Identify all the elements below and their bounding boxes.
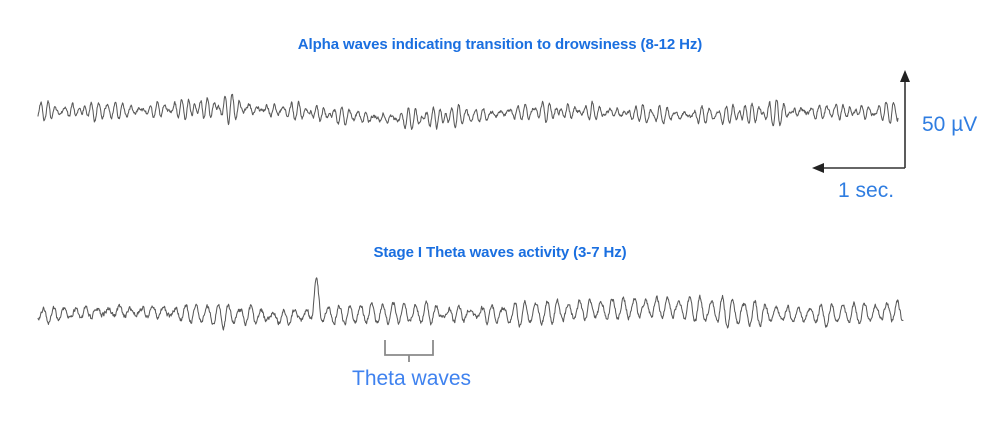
bracket-shape [385, 340, 433, 355]
theta-waves-label: Theta waves [352, 367, 471, 391]
theta-waves-bracket-icon [378, 336, 440, 367]
theta-waveform [0, 0, 1000, 432]
theta-waveform-path [38, 278, 903, 330]
eeg-figure: Alpha waves indicating transition to dro… [0, 0, 1000, 432]
